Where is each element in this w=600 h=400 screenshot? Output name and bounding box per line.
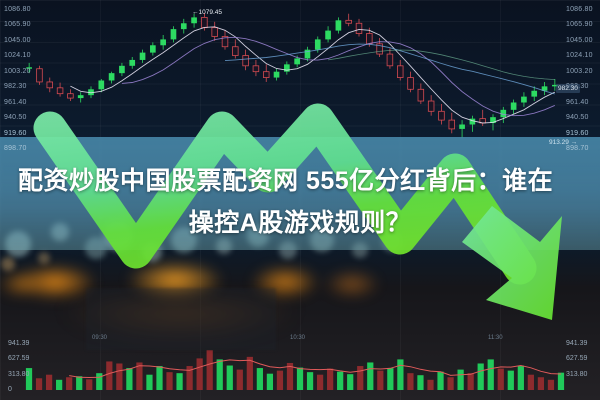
page-title-line-1: 配资炒股中国股票配资网 555亿分红背后：谁在 bbox=[18, 160, 582, 202]
screenshot-root: 1086.801065.901045.001024.101003.20982.3… bbox=[0, 0, 600, 400]
page-title: 配资炒股中国股票配资网 555亿分红背后：谁在 操控A股游戏规则？ bbox=[18, 160, 582, 244]
page-title-line-2: 操控A股游戏规则？ bbox=[18, 202, 582, 244]
